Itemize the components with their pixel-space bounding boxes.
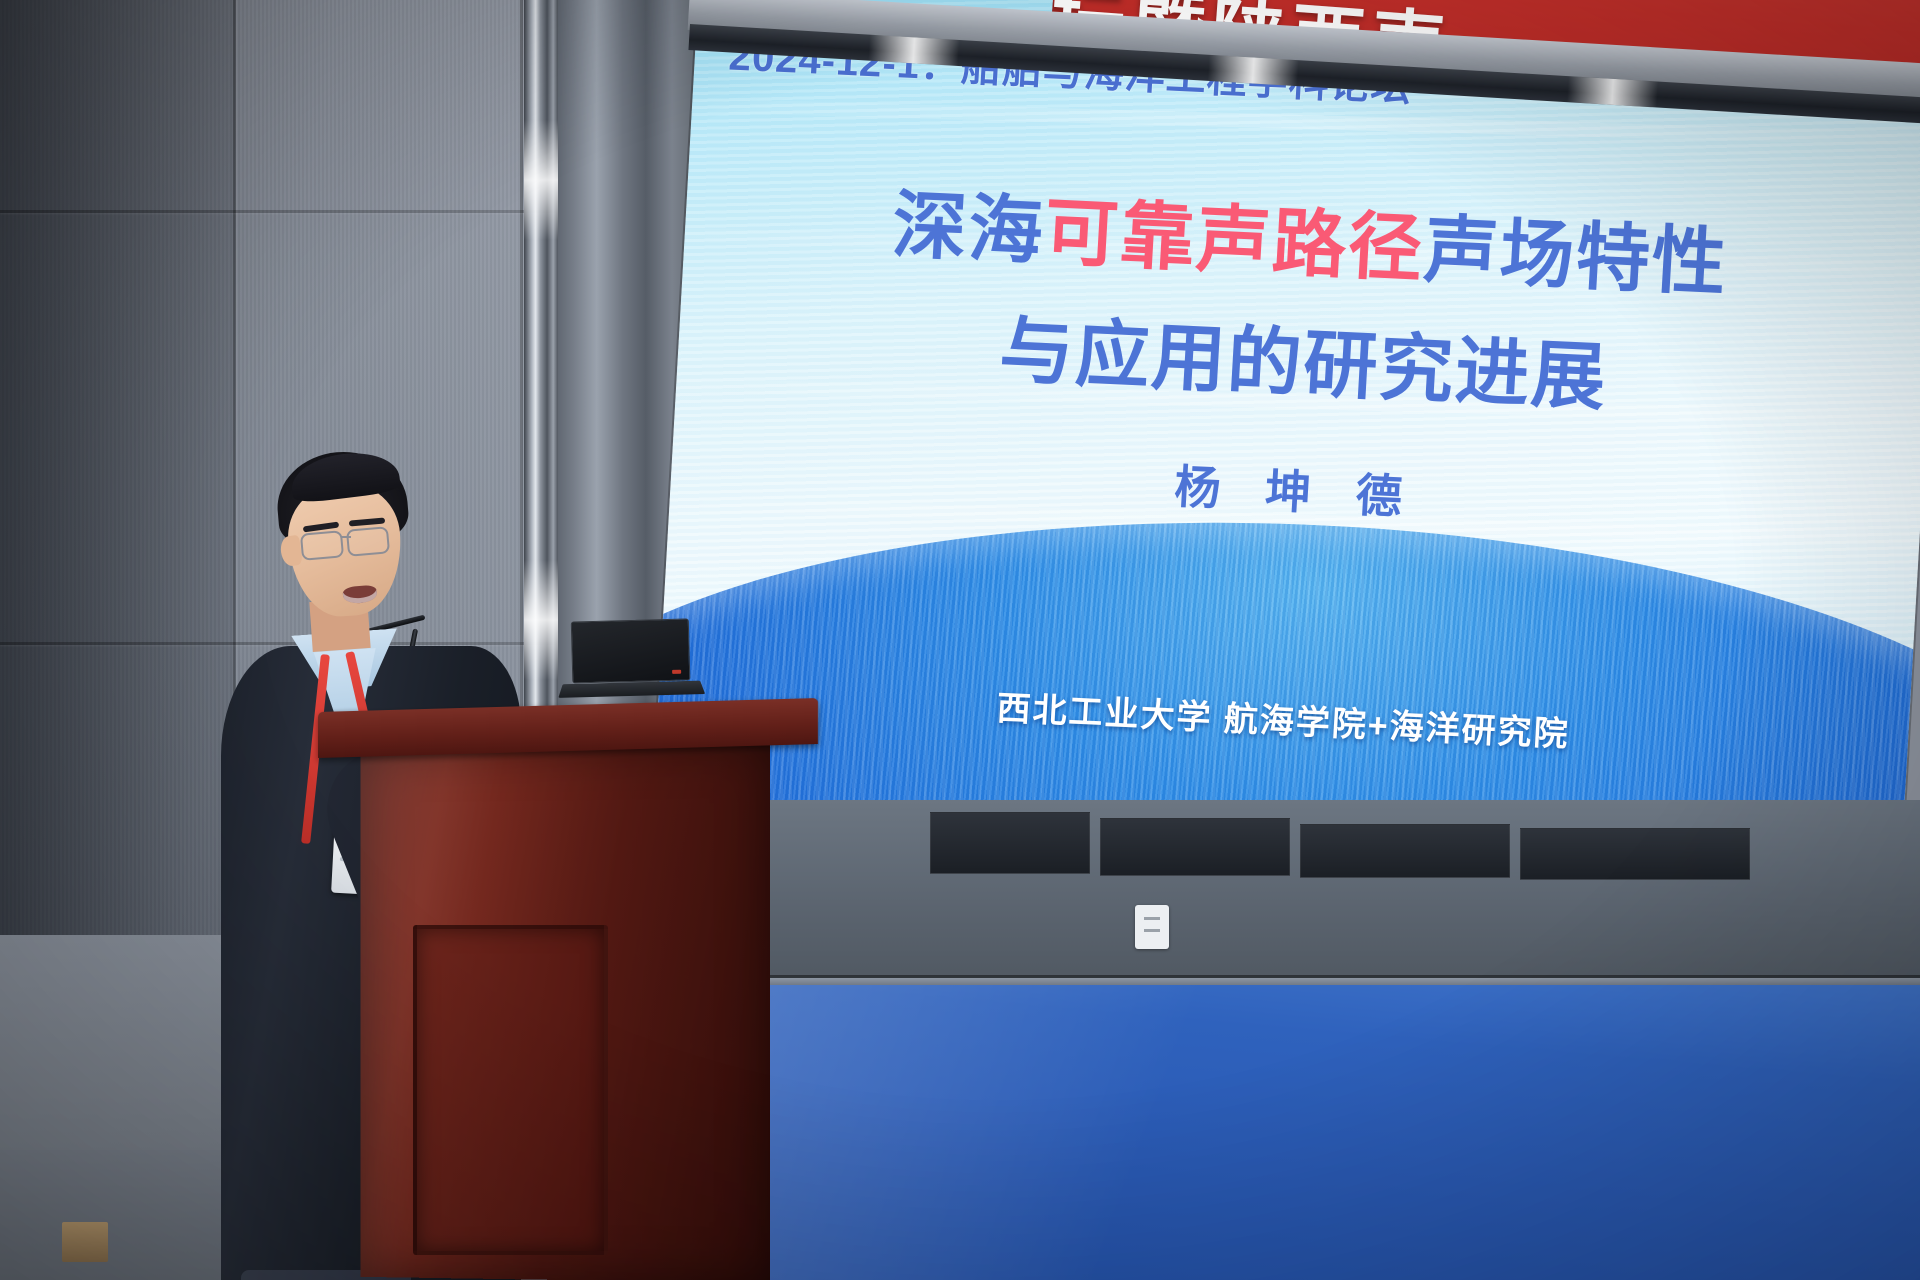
podium-front-panel — [413, 925, 608, 1255]
ear — [279, 535, 303, 567]
vent-panel — [1100, 818, 1290, 876]
glasses-lens — [346, 526, 390, 557]
presentation-scene: 2024-12-1：船舶与海洋工程学科论坛 深海可靠声路径声场特性 与应用的研究… — [0, 0, 1920, 1280]
wall-socket — [1135, 905, 1169, 949]
laptop-lid — [571, 618, 691, 683]
vent-panel — [1520, 828, 1750, 880]
title-segment-red: 可靠声路径 — [1042, 190, 1426, 290]
title-segment-blue-2: 声场特性 — [1422, 208, 1730, 305]
presentation-screen: 2024-12-1：船舶与海洋工程学科论坛 深海可靠声路径声场特性 与应用的研究… — [650, 0, 1920, 902]
laptop-base — [558, 681, 705, 698]
laptop-logo — [672, 670, 681, 674]
vent-panel — [1300, 824, 1510, 878]
stage-floor — [700, 985, 1920, 1280]
glasses-lens — [300, 530, 344, 561]
title-segment-blue-1: 深海 — [890, 183, 1047, 273]
metal-highlight — [524, 120, 558, 240]
glasses-bridge — [341, 536, 351, 538]
floor-object — [62, 1222, 108, 1262]
floor-sheen — [700, 985, 1920, 1280]
vent-panel — [930, 812, 1090, 874]
podium — [318, 705, 818, 1280]
